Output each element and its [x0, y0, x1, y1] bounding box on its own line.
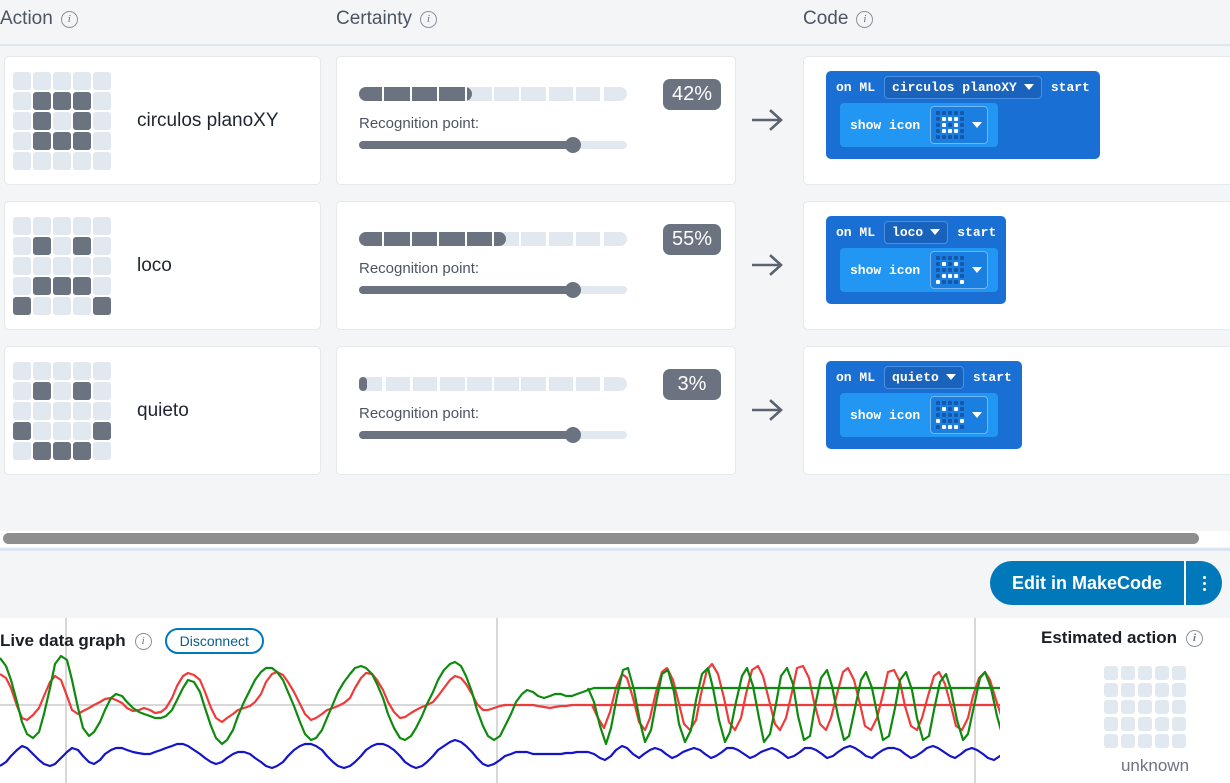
led-cell	[960, 413, 964, 417]
led-cell	[1121, 717, 1135, 731]
led-cell	[33, 382, 51, 400]
led-cell	[960, 111, 964, 115]
makecode-block-stack[interactable]: on MLquietostartshow icon	[826, 361, 1022, 449]
chevron-down-icon	[930, 229, 940, 235]
led-cell	[93, 217, 111, 235]
led-cell	[13, 402, 31, 420]
slider-fill	[359, 286, 573, 294]
info-icon[interactable]: i	[420, 11, 437, 28]
led-cell	[1172, 734, 1186, 748]
slider-fill	[359, 141, 573, 149]
led-cell	[33, 297, 51, 315]
certainty-meter-segment	[440, 232, 465, 246]
horizontal-scrollbar-thumb[interactable]	[3, 533, 1199, 544]
led-cell	[954, 401, 958, 405]
led-cell	[960, 262, 964, 266]
led-cell	[948, 117, 952, 121]
action-card[interactable]: quieto	[4, 346, 321, 475]
led-cell	[73, 72, 91, 90]
action-row: quieto3%Recognition point:on MLquietosta…	[0, 338, 1230, 483]
live-data-graph-header: Live data graph i Disconnect	[0, 628, 264, 654]
estimated-action-label: unknown	[1100, 756, 1210, 776]
led-cell	[948, 262, 952, 266]
certainty-card: 3%Recognition point:	[336, 346, 736, 475]
led-cell	[960, 419, 964, 423]
led-cell	[33, 217, 51, 235]
arrow-right-icon	[750, 108, 786, 132]
certainty-meter-segment	[359, 377, 384, 391]
led-cell	[53, 72, 71, 90]
recognition-point-slider[interactable]	[359, 141, 627, 149]
on-ml-label: on ML	[836, 80, 875, 95]
makecode-block-body: show icon	[826, 103, 1100, 159]
led-cell	[93, 132, 111, 150]
led-cell	[1138, 717, 1152, 731]
led-cell	[960, 117, 964, 121]
certainty-meter-segment	[548, 87, 573, 101]
code-card: on MLcirculos planoXYstartshow icon	[803, 56, 1230, 185]
led-cell	[73, 402, 91, 420]
certainty-meter-segment	[575, 87, 600, 101]
led-cell	[942, 425, 946, 429]
chevron-down-icon	[1024, 84, 1034, 90]
recognition-point-label: Recognition point:	[359, 115, 479, 132]
led-cell	[73, 132, 91, 150]
led-cell	[954, 274, 958, 278]
led-cell	[936, 268, 940, 272]
led-cell	[936, 111, 940, 115]
led-cell	[53, 402, 71, 420]
led-cell	[942, 129, 946, 133]
action-name[interactable]: quieto	[137, 400, 189, 422]
action-name[interactable]: loco	[137, 255, 172, 277]
makecode-block-stack[interactable]: on MLcirculos planoXYstartshow icon	[826, 71, 1100, 159]
led-cell	[53, 112, 71, 130]
column-header-code-label: Code	[803, 8, 848, 30]
chevron-down-icon	[972, 267, 982, 273]
column-header-bar: Action i Certainty i Code i	[0, 0, 1230, 46]
led-cell	[954, 256, 958, 260]
led-cell	[948, 256, 952, 260]
led-cell	[942, 268, 946, 272]
led-cell	[954, 268, 958, 272]
led-cell	[948, 419, 952, 423]
certainty-meter-segment	[467, 232, 492, 246]
makecode-block-stack[interactable]: on MLlocostartshow icon	[826, 216, 1006, 304]
certainty-card-inner: 55%Recognition point:	[337, 202, 735, 329]
action-rows: circulos planoXY42%Recognition point:on …	[0, 48, 1230, 534]
led-cell	[942, 117, 946, 121]
led-cell	[1121, 734, 1135, 748]
start-label: start	[1051, 80, 1090, 95]
led-cell	[960, 256, 964, 260]
action-led-grid	[13, 362, 111, 460]
code-card: on MLquietostartshow icon	[803, 346, 1230, 475]
led-cell	[936, 407, 940, 411]
code-card: on MLlocostartshow icon	[803, 201, 1230, 330]
ml-machine-app: Action i Certainty i Code i circulos pla…	[0, 0, 1230, 783]
led-cell	[1138, 683, 1152, 697]
disconnect-button[interactable]: Disconnect	[165, 628, 264, 654]
led-cell	[954, 111, 958, 115]
led-cell	[73, 422, 91, 440]
led-cell	[13, 297, 31, 315]
led-cell	[73, 217, 91, 235]
led-cell	[936, 262, 940, 266]
led-cell	[936, 123, 940, 127]
certainty-meter-segment	[575, 232, 600, 246]
led-cell	[936, 419, 940, 423]
action-card-inner: circulos planoXY	[5, 57, 320, 184]
kebab-menu-icon[interactable]	[1184, 561, 1222, 605]
led-cell	[942, 111, 946, 115]
show-icon-label: show icon	[850, 118, 920, 133]
led-cell	[1104, 717, 1118, 731]
certainty-percent-badge: 3%	[663, 369, 721, 400]
led-cell	[954, 280, 958, 284]
led-cell	[948, 280, 952, 284]
certainty-card: 55%Recognition point:	[336, 201, 736, 330]
led-cell	[942, 407, 946, 411]
led-cell	[954, 425, 958, 429]
certainty-meter	[359, 87, 627, 101]
led-cell	[954, 407, 958, 411]
led-cell	[73, 257, 91, 275]
led-cell	[13, 382, 31, 400]
led-cell	[73, 382, 91, 400]
led-cell	[942, 401, 946, 405]
led-cell	[936, 274, 940, 278]
info-icon[interactable]: i	[135, 633, 152, 650]
led-cell	[1172, 700, 1186, 714]
led-cell	[13, 362, 31, 380]
certainty-meter-segment	[467, 377, 492, 391]
column-header-code: Code i	[803, 8, 873, 30]
certainty-meter-segment	[548, 232, 573, 246]
led-cell	[1155, 700, 1169, 714]
led-cell	[33, 362, 51, 380]
makecode-block-body: show icon	[826, 248, 1006, 304]
certainty-percent-badge: 42%	[663, 79, 721, 110]
led-cell	[33, 152, 51, 170]
led-cell	[33, 277, 51, 295]
led-cell	[948, 413, 952, 417]
certainty-meter-segment	[548, 377, 573, 391]
column-header-certainty-label: Certainty	[336, 8, 412, 30]
led-cell	[53, 382, 71, 400]
arrow-right-icon	[750, 398, 786, 422]
arrow-right-icon	[750, 108, 786, 132]
led-cell	[948, 425, 952, 429]
action-row: loco55%Recognition point:on MLlocostarts…	[0, 193, 1230, 338]
certainty-meter-segment	[602, 87, 627, 101]
action-dropdown-label: loco	[892, 225, 923, 240]
led-cell	[93, 402, 111, 420]
led-cell	[53, 297, 71, 315]
led-cell	[942, 262, 946, 266]
led-cell	[936, 256, 940, 260]
action-card[interactable]: circulos planoXY	[4, 56, 321, 185]
certainty-meter-segment	[521, 87, 546, 101]
certainty-card-inner: 42%Recognition point:	[337, 57, 735, 184]
led-cell	[948, 129, 952, 133]
certainty-meter-segment	[359, 87, 384, 101]
led-cell	[73, 112, 91, 130]
start-label: start	[973, 370, 1012, 385]
action-name[interactable]: circulos planoXY	[137, 110, 279, 132]
column-header-certainty: Certainty i	[336, 8, 437, 30]
led-cell	[942, 419, 946, 423]
action-dropdown-label: quieto	[892, 370, 939, 385]
led-cell	[960, 274, 964, 278]
chevron-down-icon	[972, 412, 982, 418]
certainty-meter-segment	[386, 232, 411, 246]
certainty-meter-segment	[386, 87, 411, 101]
led-cell	[936, 425, 940, 429]
led-cell	[942, 413, 946, 417]
certainty-meter-segment	[386, 377, 411, 391]
led-cell	[33, 92, 51, 110]
led-cell	[948, 135, 952, 139]
led-cell	[93, 422, 111, 440]
led-cell	[1138, 666, 1152, 680]
icon-picker-field[interactable]	[930, 251, 988, 289]
led-cell	[73, 92, 91, 110]
led-cell	[954, 129, 958, 133]
slider-thumb[interactable]	[565, 282, 581, 298]
certainty-meter-segment	[521, 377, 546, 391]
led-cell	[1155, 666, 1169, 680]
led-cell	[954, 262, 958, 266]
led-cell	[53, 152, 71, 170]
led-cell	[13, 442, 31, 460]
recognition-point-slider[interactable]	[359, 431, 627, 439]
led-cell	[936, 117, 940, 121]
led-cell	[1155, 717, 1169, 731]
led-cell	[1172, 683, 1186, 697]
led-cell	[53, 217, 71, 235]
led-cell	[948, 274, 952, 278]
led-cell	[13, 237, 31, 255]
led-cell	[1104, 683, 1118, 697]
certainty-meter-segment	[602, 377, 627, 391]
led-cell	[1172, 666, 1186, 680]
led-cell	[1121, 683, 1135, 697]
makecode-block-body: show icon	[826, 393, 1022, 449]
led-cell	[1155, 734, 1169, 748]
led-cell	[960, 407, 964, 411]
estimated-action-panel: Estimated action i unknown	[1000, 618, 1230, 783]
led-cell	[53, 92, 71, 110]
led-cell	[1121, 666, 1135, 680]
led-cell	[93, 237, 111, 255]
led-cell	[73, 442, 91, 460]
led-cell	[33, 237, 51, 255]
edit-in-makecode-button[interactable]: Edit in MakeCode	[990, 561, 1184, 605]
action-card-inner: quieto	[5, 347, 320, 474]
action-dropdown[interactable]: circulos planoXY	[884, 76, 1042, 99]
bottom-panel: Edit in MakeCode Live	[0, 551, 1230, 783]
led-cell	[936, 129, 940, 133]
led-cell	[942, 135, 946, 139]
on-ml-label: on ML	[836, 225, 875, 240]
led-cell	[33, 422, 51, 440]
action-card[interactable]: loco	[4, 201, 321, 330]
led-cell	[954, 123, 958, 127]
certainty-card: 42%Recognition point:	[336, 56, 736, 185]
makecode-on-ml-block[interactable]: on MLcirculos planoXYstart	[826, 71, 1100, 103]
led-cell	[13, 112, 31, 130]
led-cell	[954, 135, 958, 139]
certainty-meter-segment	[440, 87, 465, 101]
recognition-point-label: Recognition point:	[359, 260, 479, 277]
chevron-down-icon	[972, 122, 982, 128]
certainty-meter-segment	[494, 377, 519, 391]
makecode-show-icon-block[interactable]: show icon	[840, 103, 998, 147]
led-cell	[33, 442, 51, 460]
led-cell	[13, 152, 31, 170]
certainty-meter-segment	[359, 232, 384, 246]
slider-fill	[359, 431, 573, 439]
led-cell	[936, 401, 940, 405]
certainty-meter-segment	[413, 377, 438, 391]
icon-picker-field[interactable]	[930, 396, 988, 434]
estimated-action-led-grid	[1104, 666, 1186, 748]
info-icon[interactable]: i	[1186, 630, 1203, 647]
led-cell	[1104, 700, 1118, 714]
led-cell	[93, 382, 111, 400]
led-cell	[93, 92, 111, 110]
led-cell	[948, 123, 952, 127]
led-cell	[53, 277, 71, 295]
led-cell	[1155, 683, 1169, 697]
led-cell	[93, 72, 111, 90]
certainty-meter-segment	[494, 232, 519, 246]
column-header-action-label: Action	[0, 8, 53, 30]
led-cell	[73, 362, 91, 380]
info-icon[interactable]: i	[856, 11, 873, 28]
led-cell	[960, 268, 964, 272]
estimated-action-title: Estimated action	[1041, 628, 1177, 648]
led-cell	[53, 257, 71, 275]
led-cell	[960, 123, 964, 127]
show-icon-label: show icon	[850, 408, 920, 423]
makecode-on-ml-block[interactable]: on MLlocostart	[826, 216, 1006, 248]
show-icon-label: show icon	[850, 263, 920, 278]
led-cell	[13, 422, 31, 440]
led-cell	[960, 425, 964, 429]
led-cell	[948, 407, 952, 411]
certainty-percent-badge: 55%	[663, 224, 721, 255]
led-cell	[53, 362, 71, 380]
recognition-point-slider[interactable]	[359, 286, 627, 294]
certainty-meter-segment	[413, 87, 438, 101]
led-cell	[960, 135, 964, 139]
led-cell	[936, 135, 940, 139]
edit-in-makecode-group: Edit in MakeCode	[990, 561, 1222, 605]
led-cell	[954, 413, 958, 417]
certainty-meter-segment	[413, 232, 438, 246]
led-cell	[13, 217, 31, 235]
block-icon-preview-grid	[936, 256, 964, 284]
info-icon[interactable]: i	[61, 11, 78, 28]
slider-thumb[interactable]	[565, 427, 581, 443]
led-cell	[53, 442, 71, 460]
chevron-down-icon	[946, 374, 956, 380]
certainty-meter-segment	[440, 377, 465, 391]
led-cell	[960, 129, 964, 133]
makecode-show-icon-block[interactable]: show icon	[840, 393, 998, 437]
led-cell	[960, 401, 964, 405]
led-cell	[13, 72, 31, 90]
led-cell	[93, 297, 111, 315]
led-cell	[948, 401, 952, 405]
led-cell	[942, 256, 946, 260]
led-cell	[1121, 700, 1135, 714]
led-cell	[936, 413, 940, 417]
led-cell	[53, 132, 71, 150]
certainty-meter-segment	[602, 232, 627, 246]
makecode-show-icon-block[interactable]: show icon	[840, 248, 998, 292]
led-cell	[960, 280, 964, 284]
led-cell	[948, 111, 952, 115]
action-dropdown[interactable]: loco	[884, 221, 948, 244]
action-dropdown[interactable]: quieto	[884, 366, 964, 389]
certainty-card-inner: 3%Recognition point:	[337, 347, 735, 474]
start-label: start	[957, 225, 996, 240]
led-cell	[1104, 666, 1118, 680]
column-header-action: Action i	[0, 8, 78, 30]
led-cell	[1138, 734, 1152, 748]
recognition-point-label: Recognition point:	[359, 405, 479, 422]
live-data-graph-title: Live data graph	[0, 631, 126, 651]
led-cell	[73, 277, 91, 295]
led-cell	[53, 237, 71, 255]
slider-thumb[interactable]	[565, 137, 581, 153]
led-cell	[93, 362, 111, 380]
arrow-right-icon	[750, 253, 786, 277]
led-cell	[93, 257, 111, 275]
action-card-inner: loco	[5, 202, 320, 329]
arrow-right-icon	[750, 398, 786, 422]
led-cell	[13, 277, 31, 295]
led-cell	[1104, 734, 1118, 748]
led-cell	[33, 112, 51, 130]
led-cell	[33, 257, 51, 275]
led-cell	[1172, 717, 1186, 731]
led-cell	[942, 280, 946, 284]
led-cell	[93, 112, 111, 130]
certainty-meter-segment	[467, 87, 492, 101]
block-icon-preview-grid	[936, 111, 964, 139]
led-cell	[93, 152, 111, 170]
led-cell	[13, 92, 31, 110]
led-cell	[73, 237, 91, 255]
certainty-meter-segment	[575, 377, 600, 391]
icon-picker-field[interactable]	[930, 106, 988, 144]
led-cell	[33, 402, 51, 420]
estimated-action-header: Estimated action i	[1041, 628, 1203, 648]
led-cell	[13, 132, 31, 150]
led-cell	[942, 123, 946, 127]
certainty-meter	[359, 377, 627, 391]
led-cell	[13, 257, 31, 275]
action-led-grid	[13, 217, 111, 315]
block-icon-preview-grid	[936, 401, 964, 429]
led-cell	[93, 442, 111, 460]
led-cell	[93, 277, 111, 295]
makecode-on-ml-block[interactable]: on MLquietostart	[826, 361, 1022, 393]
